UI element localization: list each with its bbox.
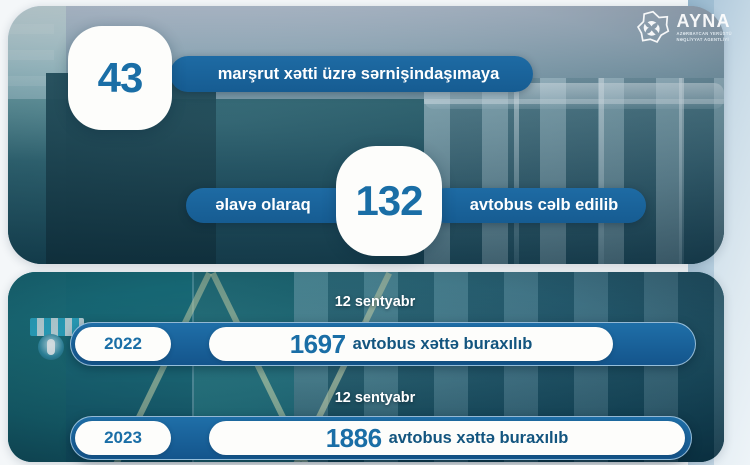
route-text-label: marşrut xətti üzrə sərnişindaşımaya — [218, 65, 500, 84]
ayna-logo: AYNA AZƏRBAYCAN YERÜSTÜ NƏQLİYYAT AGENTL… — [636, 10, 732, 44]
value-number-2023: 1886 — [326, 423, 382, 454]
year-chip-2023: 2023 — [75, 421, 171, 455]
year-bar-2022: 2022 1697 avtobus xəttə buraxılıb — [70, 322, 696, 366]
extra-prefix-pill: əlavə olaraq — [186, 188, 352, 223]
row-date-2023: 12 sentyabr — [0, 390, 750, 406]
logo-subtitle-line1: AZƏRBAYCAN YERÜSTÜ — [677, 32, 732, 36]
infographic-canvas: AYNA AZƏRBAYCAN YERÜSTÜ NƏQLİYYAT AGENTL… — [0, 0, 750, 465]
value-number-2022: 1697 — [290, 329, 346, 360]
extra-suffix-pill: avtobus cəlb edilib — [428, 188, 646, 223]
logo-title: AYNA — [677, 12, 732, 30]
route-count-value: 43 — [98, 54, 143, 102]
year-chip-2022: 2022 — [75, 327, 171, 361]
bus-count-card: 132 — [336, 146, 442, 256]
row-date-2022: 12 sentyabr — [0, 294, 750, 310]
value-text-2023: avtobus xəttə buraxılıb — [389, 429, 569, 448]
year-bar-2023: 2023 1886 avtobus xəttə buraxılıb — [70, 416, 692, 460]
bus-count-value: 132 — [355, 177, 422, 225]
route-count-card: 43 — [68, 26, 172, 130]
extra-prefix-label: əlavə olaraq — [215, 196, 310, 215]
value-plate-2023: 1886 avtobus xəttə buraxılıb — [209, 421, 685, 455]
route-text-pill: marşrut xətti üzrə sərnişindaşımaya — [170, 56, 533, 92]
extra-suffix-label: avtobus cəlb edilib — [470, 196, 619, 215]
eight-point-star-icon — [636, 10, 670, 44]
value-text-2022: avtobus xəttə buraxılıb — [353, 335, 533, 354]
logo-subtitle-line2: NƏQLİYYAT AGENTLİYİ — [677, 38, 732, 42]
logo-text-block: AYNA AZƏRBAYCAN YERÜSTÜ NƏQLİYYAT AGENTL… — [677, 12, 732, 42]
value-plate-2022: 1697 avtobus xəttə buraxılıb — [209, 327, 613, 361]
